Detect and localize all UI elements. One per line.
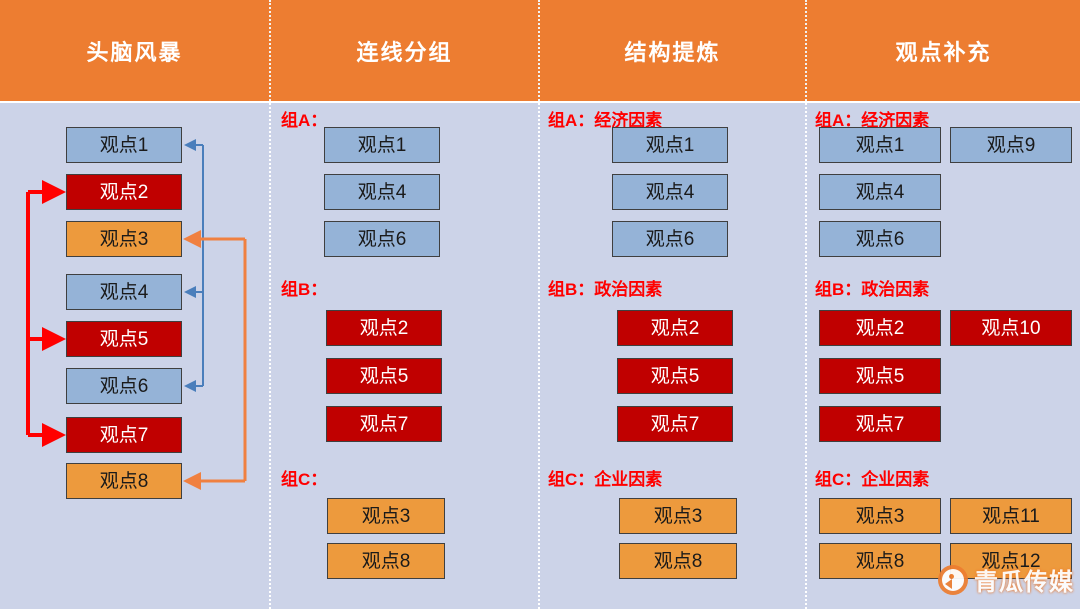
idea-box[interactable]: 观点6 <box>324 221 440 257</box>
header-cell-1[interactable]: 头脑风暴 <box>0 0 271 101</box>
header-label: 观点补充 <box>895 35 991 67</box>
idea-box[interactable]: 观点7 <box>617 406 733 442</box>
idea-box[interactable]: 观点4 <box>612 174 728 210</box>
group-label: 组B： <box>281 280 327 300</box>
idea-box[interactable]: 观点5 <box>66 321 182 357</box>
idea-box[interactable]: 观点3 <box>619 498 737 534</box>
idea-box[interactable]: 观点1 <box>66 127 182 163</box>
header-label: 连线分组 <box>356 35 452 67</box>
idea-box[interactable]: 观点2 <box>617 310 733 346</box>
idea-box[interactable]: 观点4 <box>324 174 440 210</box>
group-label: 组A： <box>281 111 327 131</box>
cucumber-bird-logo-icon <box>938 565 968 595</box>
process-diagram: 头脑风暴连线分组结构提炼观点补充 观点1观点2观点3观点4观点5观点6观点7观点… <box>0 0 1080 609</box>
column-1: 观点1观点2观点3观点4观点5观点6观点7观点8 <box>0 103 271 609</box>
idea-box[interactable]: 观点4 <box>819 174 941 210</box>
watermark: 青瓜传媒 <box>938 562 1074 597</box>
header-label: 结构提炼 <box>624 35 720 67</box>
idea-box[interactable]: 观点3 <box>819 498 941 534</box>
idea-box[interactable]: 观点6 <box>819 221 941 257</box>
idea-box[interactable]: 观点9 <box>950 127 1072 163</box>
idea-box[interactable]: 观点5 <box>819 358 941 394</box>
idea-box[interactable]: 观点7 <box>326 406 442 442</box>
group-label: 组C：企业因素 <box>815 470 929 490</box>
header-cell-3[interactable]: 结构提炼 <box>540 0 807 101</box>
idea-box[interactable]: 观点8 <box>327 543 445 579</box>
idea-box[interactable]: 观点1 <box>819 127 941 163</box>
idea-box[interactable]: 观点2 <box>819 310 941 346</box>
idea-box[interactable]: 观点1 <box>324 127 440 163</box>
header-cell-2[interactable]: 连线分组 <box>271 0 540 101</box>
column-3: 组A：经济因素观点1观点4观点6组B：政治因素观点2观点5观点7组C：企业因素观… <box>540 103 807 609</box>
idea-box[interactable]: 观点10 <box>950 310 1072 346</box>
idea-box[interactable]: 观点7 <box>66 417 182 453</box>
idea-box[interactable]: 观点3 <box>327 498 445 534</box>
idea-box[interactable]: 观点8 <box>619 543 737 579</box>
column-2: 组A：观点1观点4观点6组B：观点2观点5观点7组C：观点3观点8 <box>271 103 540 609</box>
body-row: 观点1观点2观点3观点4观点5观点6观点7观点8组A：观点1观点4观点6组B：观… <box>0 103 1080 609</box>
idea-box[interactable]: 观点7 <box>819 406 941 442</box>
group-label: 组B：政治因素 <box>815 280 929 300</box>
header-row: 头脑风暴连线分组结构提炼观点补充 <box>0 0 1080 101</box>
idea-box[interactable]: 观点8 <box>819 543 941 579</box>
group-label: 组C：企业因素 <box>548 470 662 490</box>
idea-box[interactable]: 观点3 <box>66 221 182 257</box>
column-4: 组A：经济因素观点1观点9观点4观点6组B：政治因素观点2观点10观点5观点7组… <box>807 103 1080 609</box>
idea-box[interactable]: 观点6 <box>66 368 182 404</box>
header-label: 头脑风暴 <box>86 35 182 67</box>
header-cell-4[interactable]: 观点补充 <box>807 0 1080 101</box>
idea-box[interactable]: 观点5 <box>617 358 733 394</box>
idea-box[interactable]: 观点6 <box>612 221 728 257</box>
idea-box[interactable]: 观点1 <box>612 127 728 163</box>
idea-box[interactable]: 观点2 <box>326 310 442 346</box>
group-label: 组C： <box>281 470 327 490</box>
idea-box[interactable]: 观点4 <box>66 274 182 310</box>
idea-box[interactable]: 观点8 <box>66 463 182 499</box>
watermark-text: 青瓜传媒 <box>974 562 1074 597</box>
idea-box[interactable]: 观点5 <box>326 358 442 394</box>
group-label: 组B：政治因素 <box>548 280 662 300</box>
idea-box[interactable]: 观点2 <box>66 174 182 210</box>
idea-box[interactable]: 观点11 <box>950 498 1072 534</box>
